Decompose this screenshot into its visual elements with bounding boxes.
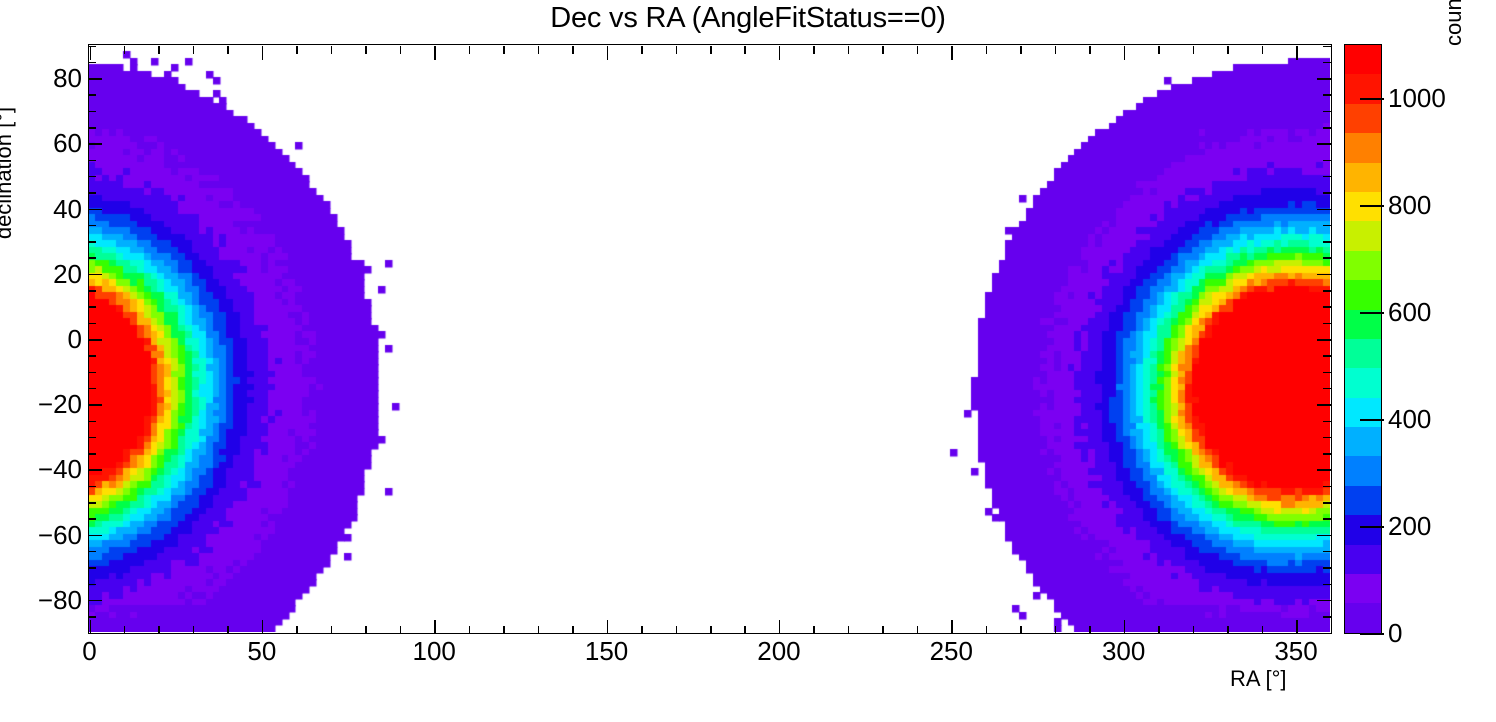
x-tick-top — [1193, 46, 1195, 54]
color-band — [1345, 603, 1381, 632]
color-scale-label: 200 — [1388, 513, 1431, 539]
y-tick-label: −20 — [38, 391, 82, 417]
x-tick — [90, 620, 92, 634]
y-tick-right — [1317, 339, 1331, 341]
x-tick-top — [882, 46, 884, 54]
y-tick-right — [1317, 600, 1331, 602]
y-tick-right — [1323, 372, 1331, 374]
x-tick — [124, 626, 126, 634]
y-tick-right — [1323, 290, 1331, 292]
y-tick-right — [1323, 518, 1331, 520]
x-tick-top — [676, 46, 678, 54]
y-tick — [88, 323, 96, 325]
y-tick-right — [1323, 94, 1331, 96]
x-tick-top — [365, 46, 367, 54]
color-band — [1345, 398, 1381, 427]
x-tick-top — [434, 46, 436, 60]
y-tick-right — [1323, 192, 1331, 194]
x-tick — [710, 626, 712, 634]
page-title: Dec vs RA (AngleFitStatus==0) — [0, 2, 1496, 35]
x-tick — [607, 620, 609, 634]
y-tick-right — [1323, 176, 1331, 178]
color-scale-tick — [1360, 419, 1384, 421]
y-tick-right — [1323, 257, 1331, 259]
y-tick — [88, 257, 96, 259]
y-tick-right — [1323, 567, 1331, 569]
root-canvas: Dec vs RA (AngleFitStatus==0) declinatio… — [0, 0, 1496, 722]
y-tick-right — [1323, 46, 1331, 48]
x-tick-top — [503, 46, 505, 54]
x-tick — [1089, 626, 1091, 634]
x-tick — [1262, 626, 1264, 634]
y-tick — [88, 78, 102, 80]
y-tick-right — [1323, 241, 1331, 243]
y-tick-right — [1323, 111, 1331, 113]
y-tick-label: 80 — [53, 65, 82, 91]
x-tick-top — [1227, 46, 1229, 54]
x-tick-label: 150 — [547, 638, 667, 664]
y-tick-right — [1317, 209, 1331, 211]
x-tick — [848, 626, 850, 634]
x-tick-top — [1296, 46, 1298, 60]
y-tick — [88, 241, 96, 243]
y-tick — [88, 388, 96, 390]
y-tick — [88, 274, 102, 276]
x-tick — [262, 620, 264, 634]
y-tick-right — [1323, 421, 1331, 423]
x-tick — [779, 620, 781, 634]
y-tick — [88, 486, 96, 488]
x-tick-top — [331, 46, 333, 54]
y-tick-right — [1317, 143, 1331, 145]
color-band — [1345, 280, 1381, 309]
y-tick — [88, 355, 96, 357]
y-tick — [88, 616, 96, 618]
x-tick-top — [951, 46, 953, 60]
y-tick-right — [1323, 355, 1331, 357]
x-tick-top — [1020, 46, 1022, 54]
color-scale-tick — [1360, 526, 1384, 528]
x-tick — [882, 626, 884, 634]
y-tick — [88, 551, 96, 553]
x-tick — [434, 620, 436, 634]
y-tick-right — [1317, 469, 1331, 471]
color-scale-tick — [1360, 98, 1384, 100]
x-tick-top — [296, 46, 298, 54]
x-tick — [296, 626, 298, 634]
y-tick-label: 60 — [53, 130, 82, 156]
x-tick — [744, 626, 746, 634]
color-scale-bar — [1344, 44, 1382, 634]
x-tick-label: 0 — [30, 638, 150, 664]
x-tick-top — [469, 46, 471, 54]
y-tick — [88, 225, 96, 227]
y-tick-right — [1323, 453, 1331, 455]
y-tick-right — [1323, 633, 1331, 635]
y-tick-right — [1323, 486, 1331, 488]
x-tick — [986, 626, 988, 634]
y-tick — [88, 469, 102, 471]
x-tick — [193, 626, 195, 634]
y-tick-right — [1323, 616, 1331, 618]
x-tick-top — [641, 46, 643, 54]
color-band — [1345, 133, 1381, 162]
x-tick-label: 250 — [891, 638, 1011, 664]
x-tick — [917, 626, 919, 634]
x-tick-top — [1055, 46, 1057, 54]
y-tick — [88, 421, 96, 423]
y-tick-right — [1323, 127, 1331, 129]
color-band — [1345, 310, 1381, 339]
x-tick — [538, 626, 540, 634]
color-band — [1345, 368, 1381, 397]
x-tick-top — [1158, 46, 1160, 54]
x-tick-top — [986, 46, 988, 54]
y-tick — [88, 176, 96, 178]
x-tick — [227, 626, 229, 634]
plot-frame — [88, 44, 1332, 634]
x-tick — [1296, 620, 1298, 634]
x-tick-top — [227, 46, 229, 54]
y-tick — [88, 143, 102, 145]
y-tick — [88, 192, 96, 194]
x-tick-top — [1124, 46, 1126, 60]
x-tick-top — [848, 46, 850, 54]
color-scale-label: 600 — [1388, 299, 1431, 325]
y-tick — [88, 502, 96, 504]
color-band — [1345, 163, 1381, 192]
y-tick — [88, 600, 102, 602]
y-tick-right — [1323, 160, 1331, 162]
color-band — [1345, 486, 1381, 515]
x-tick — [365, 626, 367, 634]
x-tick — [641, 626, 643, 634]
x-tick-label: 300 — [1064, 638, 1184, 664]
color-scale-label: 800 — [1388, 192, 1431, 218]
x-tick-top — [813, 46, 815, 54]
x-tick — [1331, 626, 1333, 634]
x-tick-label: 50 — [202, 638, 322, 664]
x-tick-top — [572, 46, 574, 54]
y-tick-right — [1317, 78, 1331, 80]
x-tick-top — [744, 46, 746, 54]
color-scale-tick — [1360, 633, 1384, 635]
color-scale-tick — [1360, 205, 1384, 207]
y-tick — [88, 518, 96, 520]
x-tick-label: 200 — [719, 638, 839, 664]
x-tick — [1124, 620, 1126, 634]
color-band — [1345, 427, 1381, 456]
y-tick — [88, 339, 102, 341]
color-band — [1345, 221, 1381, 250]
y-tick — [88, 290, 96, 292]
y-tick-right — [1323, 584, 1331, 586]
y-tick-right — [1323, 437, 1331, 439]
x-tick-top — [400, 46, 402, 54]
y-tick — [88, 306, 96, 308]
y-tick-right — [1323, 551, 1331, 553]
y-tick-label: −80 — [38, 587, 82, 613]
x-tick — [1158, 626, 1160, 634]
x-tick-top — [607, 46, 609, 60]
x-tick — [400, 626, 402, 634]
y-tick-right — [1323, 62, 1331, 64]
x-tick — [1055, 626, 1057, 634]
y-tick-label: −60 — [38, 522, 82, 548]
y-tick — [88, 127, 96, 129]
y-tick — [88, 584, 96, 586]
x-tick — [331, 626, 333, 634]
y-tick-label: 0 — [68, 326, 82, 352]
color-band — [1345, 339, 1381, 368]
x-tick-top — [262, 46, 264, 60]
x-tick-top — [90, 46, 92, 60]
color-scale-title: count — [1441, 0, 1467, 46]
color-band — [1345, 104, 1381, 133]
color-scale-tick — [1360, 312, 1384, 314]
x-tick-top — [917, 46, 919, 54]
x-tick — [1193, 626, 1195, 634]
x-tick — [676, 626, 678, 634]
y-tick — [88, 94, 96, 96]
color-scale-label: 1000 — [1388, 85, 1446, 111]
x-tick — [1020, 626, 1022, 634]
x-tick-top — [779, 46, 781, 60]
x-tick-top — [124, 46, 126, 54]
x-tick-top — [1331, 46, 1333, 54]
color-band — [1345, 45, 1381, 74]
color-band — [1345, 574, 1381, 603]
y-tick — [88, 62, 96, 64]
x-tick-top — [538, 46, 540, 54]
x-tick-top — [1262, 46, 1264, 54]
y-tick — [88, 372, 96, 374]
color-band — [1345, 545, 1381, 574]
x-tick — [469, 626, 471, 634]
color-band — [1345, 251, 1381, 280]
y-tick — [88, 567, 96, 569]
x-tick-label: 100 — [374, 638, 494, 664]
y-tick-right — [1323, 388, 1331, 390]
x-tick — [158, 626, 160, 634]
y-tick — [88, 404, 102, 406]
y-tick-right — [1323, 502, 1331, 504]
y-tick — [88, 535, 102, 537]
y-tick — [88, 453, 96, 455]
y-tick — [88, 111, 96, 113]
y-tick-label: 40 — [53, 196, 82, 222]
y-tick-right — [1317, 535, 1331, 537]
heatmap-image — [89, 45, 1330, 632]
color-band — [1345, 456, 1381, 485]
y-tick-right — [1317, 404, 1331, 406]
x-tick — [503, 626, 505, 634]
color-scale-label: 0 — [1388, 620, 1402, 646]
color-scale-label: 400 — [1388, 406, 1431, 432]
color-band — [1345, 515, 1381, 544]
x-tick — [572, 626, 574, 634]
y-tick-right — [1323, 225, 1331, 227]
y-tick — [88, 160, 96, 162]
y-tick-label: 20 — [53, 261, 82, 287]
y-axis-title: declination [°] — [0, 107, 17, 239]
x-tick-top — [158, 46, 160, 54]
x-tick-label: 350 — [1236, 638, 1356, 664]
x-tick — [951, 620, 953, 634]
x-tick — [1227, 626, 1229, 634]
y-tick — [88, 209, 102, 211]
y-tick-right — [1317, 274, 1331, 276]
x-tick-top — [1089, 46, 1091, 54]
x-axis-title: RA [°] — [1230, 666, 1286, 692]
x-tick-top — [710, 46, 712, 54]
y-tick-right — [1323, 323, 1331, 325]
x-tick — [813, 626, 815, 634]
y-tick-right — [1323, 306, 1331, 308]
x-tick-top — [193, 46, 195, 54]
y-tick — [88, 437, 96, 439]
y-tick-label: −40 — [38, 456, 82, 482]
